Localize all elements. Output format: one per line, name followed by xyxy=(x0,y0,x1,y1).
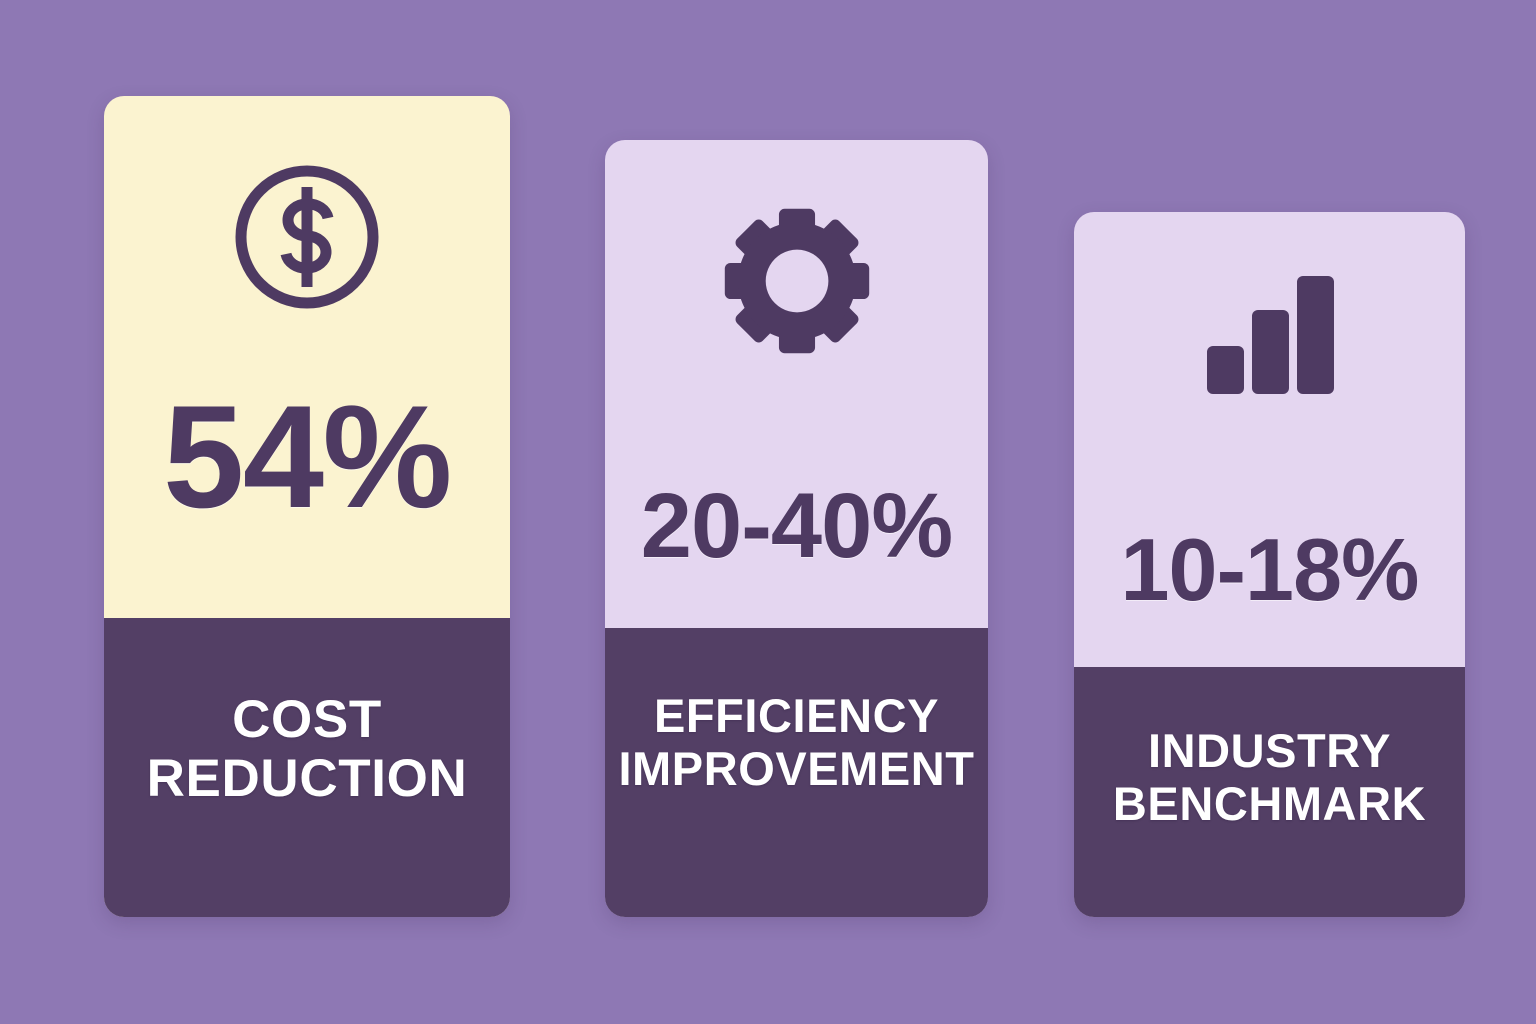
card-label-industry-benchmark: INDUSTRY BENCHMARK xyxy=(1113,725,1426,830)
card-value-industry-benchmark: 10-18% xyxy=(1120,526,1418,614)
card-footer-section: EFFICIENCY IMPROVEMENT xyxy=(605,628,988,917)
bar-chart-icon xyxy=(1199,274,1341,401)
card-value-cost-reduction: 54% xyxy=(163,384,451,530)
dollar-circle-icon xyxy=(233,163,381,316)
card-top-section: 10-18% xyxy=(1074,212,1465,667)
card-footer-section: INDUSTRY BENCHMARK xyxy=(1074,667,1465,917)
stat-card-efficiency-improvement[interactable]: 20-40% EFFICIENCY IMPROVEMENT xyxy=(605,140,988,917)
card-label-efficiency-improvement: EFFICIENCY IMPROVEMENT xyxy=(618,690,974,795)
stat-card-industry-benchmark[interactable]: 10-18% INDUSTRY BENCHMARK xyxy=(1074,212,1465,917)
card-footer-section: COST REDUCTION xyxy=(104,618,510,917)
card-top-section: 20-40% xyxy=(605,140,988,628)
card-value-efficiency-improvement: 20-40% xyxy=(641,480,953,572)
infographic-canvas: 54% COST REDUCTION xyxy=(0,0,1536,1024)
card-top-section: 54% xyxy=(104,96,510,618)
card-label-cost-reduction: COST REDUCTION xyxy=(147,690,468,809)
stat-card-cost-reduction[interactable]: 54% COST REDUCTION xyxy=(104,96,510,917)
gear-icon xyxy=(721,205,873,362)
